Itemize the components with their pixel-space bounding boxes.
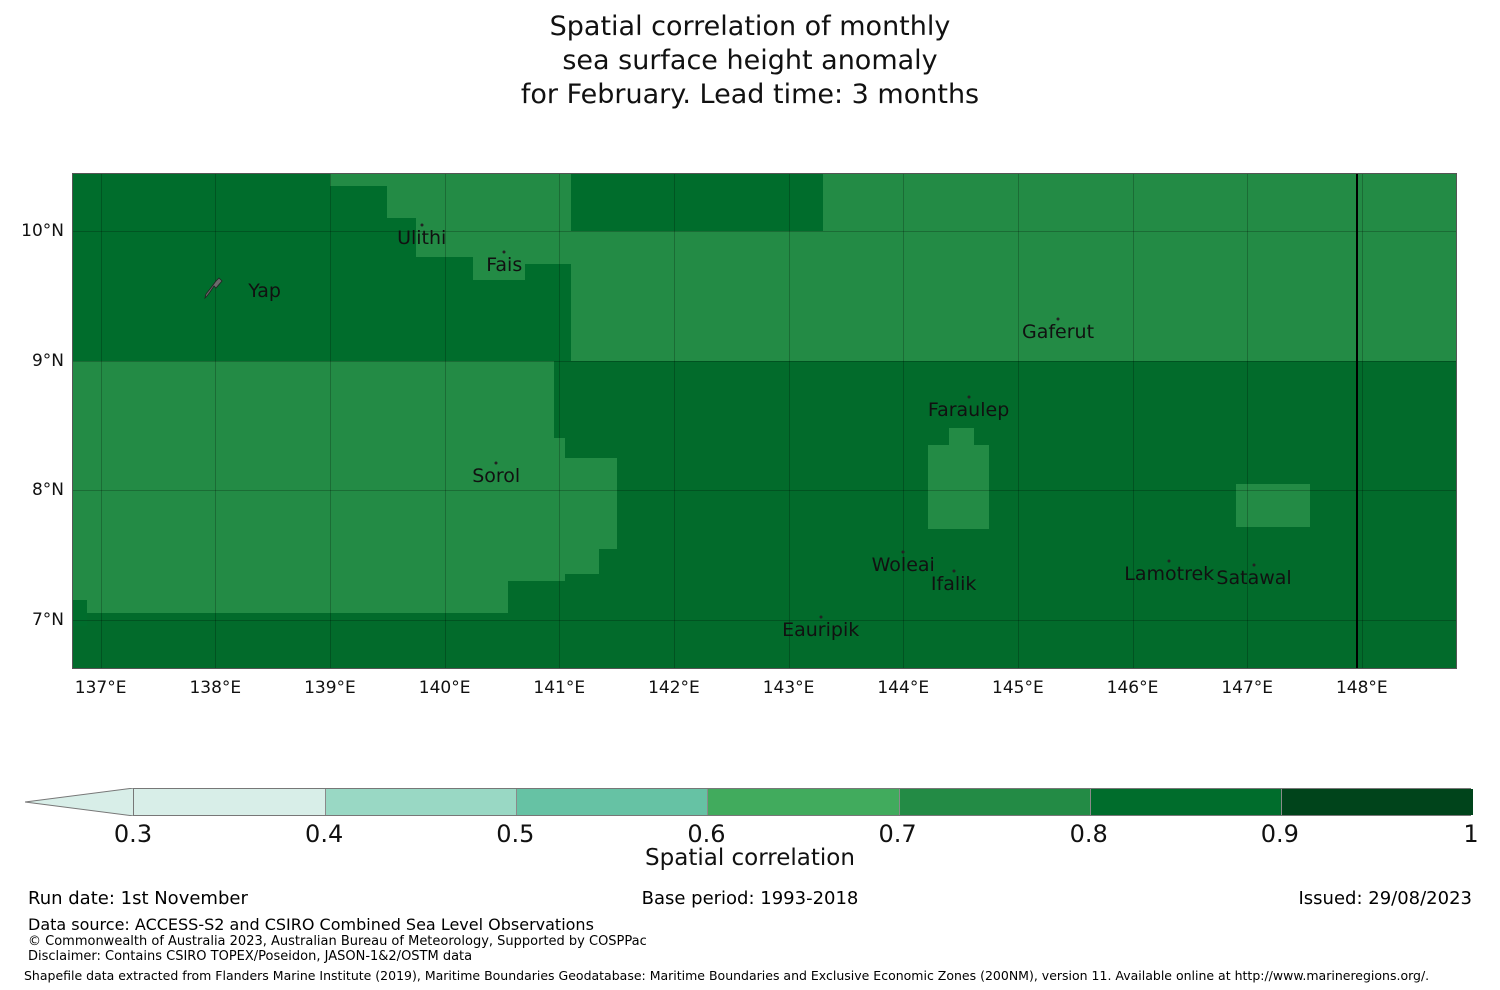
y-axis-tick-label: 9°N [32,351,64,371]
y-axis-tick-label: 7°N [32,610,64,630]
footer-shapefile-credit: Shapefile data extracted from Flanders M… [24,968,1429,983]
heatmap-cell [571,231,823,361]
heatmap-cell [330,186,387,361]
colorbar-extend-min-arrow [25,788,134,816]
gridline-vertical [1247,173,1248,669]
colorbar-band [899,789,1091,815]
eez-boundary-line [1356,173,1358,669]
heatmap-cell [823,173,1196,361]
x-axis-tick-label: 141°E [533,678,585,698]
gridline-horizontal [72,490,1457,491]
colorbar-tick-label: 0.6 [687,820,725,848]
gridline-vertical [903,173,904,669]
heatmap-cell [72,361,468,400]
heatmap-cell [525,264,571,361]
gridline-vertical [789,173,790,669]
colorbar-band [325,789,517,815]
gridline-vertical [1133,173,1134,669]
colorbar[interactable] [133,788,1471,816]
x-axis-tick-label: 137°E [75,678,127,698]
x-axis-tick-label: 142°E [648,678,700,698]
gridline-vertical [215,173,216,669]
island-label-satawal: Satawal [1216,567,1291,589]
title-line-2: sea surface height anomaly [0,44,1500,78]
heatmap-cell [565,458,617,549]
colorbar-band [707,789,899,815]
island-label-eauripik: Eauripik [782,619,859,641]
x-axis-tick-label: 138°E [189,678,241,698]
gridline-vertical [1362,173,1363,669]
colorbar-tick-label: 0.8 [1070,820,1108,848]
x-axis-tick-label: 147°E [1221,678,1273,698]
x-axis-tick-label: 148°E [1336,678,1388,698]
island-label-sorol: Sorol [472,465,520,487]
colorbar-tick-label: 0.9 [1261,820,1299,848]
x-axis-tick-label: 144°E [877,678,929,698]
heatmap-cell [330,173,387,186]
colorbar-tick-label: 0.7 [878,820,916,848]
heatmap-cell [571,173,823,231]
island-label-ifalik: Ifalik [931,573,977,595]
colorbar-container: 0.30.40.50.60.70.80.91 [0,780,1500,850]
y-axis-tick-label: 10°N [21,221,64,241]
colorbar-band [1281,789,1473,815]
colorbar-tick-label: 0.5 [496,820,534,848]
island-label-woleai: Woleai [872,554,935,576]
heatmap-cell [508,438,565,580]
x-axis-tick-label: 145°E [992,678,1044,698]
island-label-yap: Yap [248,280,281,302]
heatmap-cell [473,280,525,360]
heatmap-cell [72,173,330,361]
gridline-vertical [1018,173,1019,669]
heatmap-cell [72,400,508,614]
heatmap-cell [387,173,416,218]
colorbar-label: Spatial correlation [0,845,1500,871]
heatmap-cell [928,445,989,529]
gridline-horizontal [72,620,1457,621]
footer-copyright: © Commonwealth of Australia 2023, Austra… [28,934,647,949]
colorbar-band [1090,789,1282,815]
gridline-vertical [330,173,331,669]
heatmap-cell [949,428,974,445]
heatmap-cell [508,361,554,439]
island-label-gaferut: Gaferut [1022,321,1094,343]
heatmap-cells [72,173,1457,669]
island-label-faraulep: Faraulep [928,399,1009,421]
footer-data-source: Data source: ACCESS-S2 and CSIRO Combine… [28,915,594,934]
x-axis-tick-label: 139°E [304,678,356,698]
gridline-vertical [674,173,675,669]
colorbar-tick-label: 0.4 [305,820,343,848]
island-label-lamotrek: Lamotrek [1124,563,1214,585]
heatmap-cell [1196,173,1457,238]
colorbar-tick-label: 1 [1463,820,1478,848]
island-label-ulithi: Ulithi [397,227,446,249]
colorbar-band [516,789,708,815]
footer-disclaimer: Disclaimer: Contains CSIRO TOPEX/Poseido… [28,949,472,964]
footer-issued-date: Issued: 29/08/2023 [1298,888,1472,909]
gridline-horizontal [72,231,1457,232]
gridline-vertical [559,173,560,669]
y-axis-tick-label: 8°N [32,480,64,500]
x-axis-tick-label: 146°E [1107,678,1159,698]
footer-base-period: Base period: 1993-2018 [0,888,1500,909]
x-axis-tick-label: 143°E [763,678,815,698]
x-axis-tick-label: 140°E [419,678,471,698]
gridline-vertical [101,173,102,669]
heatmap-cell [1196,238,1457,361]
chart-title: Spatial correlation of monthly sea surfa… [0,10,1500,112]
colorbar-band [134,789,325,815]
gridline-horizontal [72,361,1457,362]
correlation-map[interactable]: YapUlithiFaisSorolGaferutFaraulepWoleaiI… [72,173,1457,669]
colorbar-tick-label: 0.3 [114,820,152,848]
title-line-1: Spatial correlation of monthly [0,10,1500,44]
island-label-fais: Fais [486,254,522,276]
island-shape-icon [204,277,224,299]
heatmap-cell [72,600,87,626]
heatmap-cell [525,173,571,264]
title-line-3: for February. Lead time: 3 months [0,78,1500,112]
